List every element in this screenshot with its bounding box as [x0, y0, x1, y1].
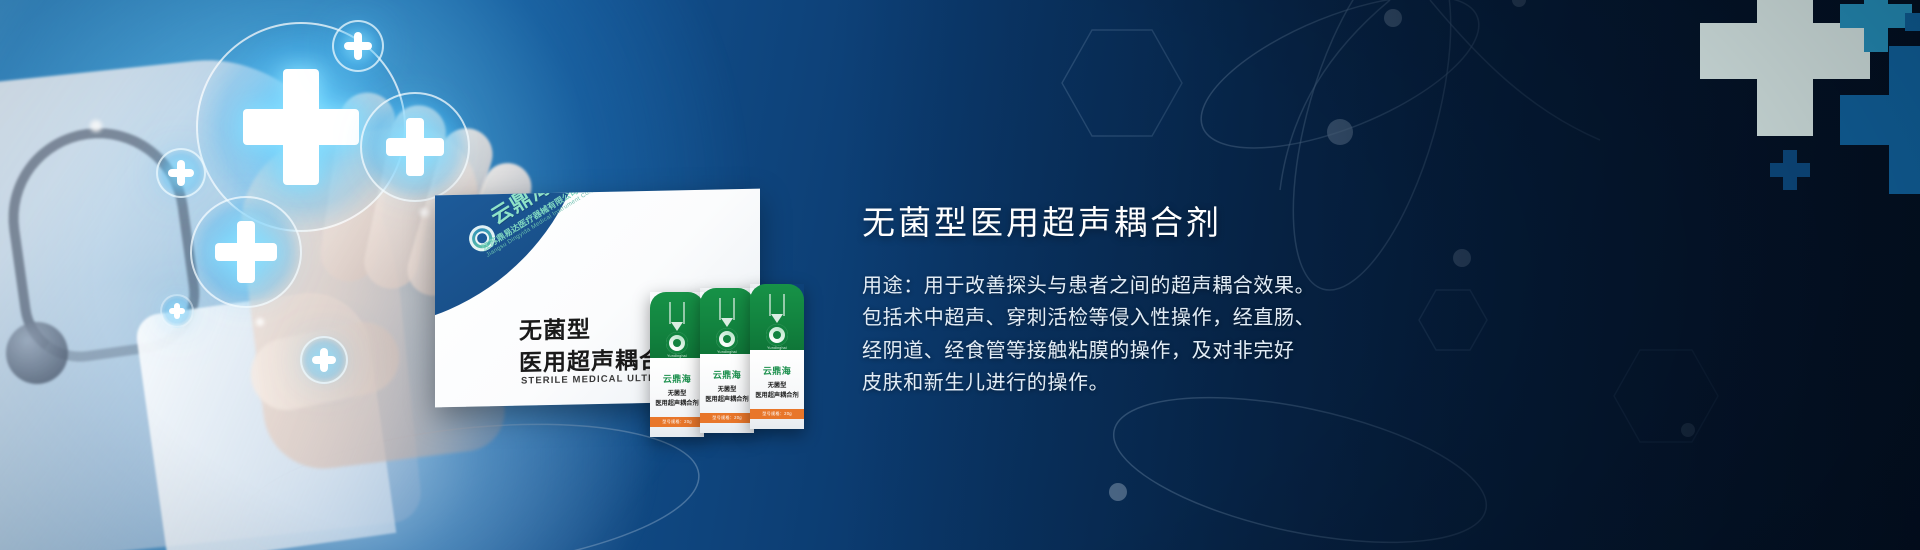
description-line: 经阴道、经食管等接触粘膜的操作，及对非完好 — [862, 335, 1482, 367]
medical-cross-icon — [1770, 150, 1810, 190]
sachet-spec-band: 型号规格：20g — [700, 413, 754, 423]
glow-cross-node — [300, 336, 348, 384]
sachet-brand: 云鼎海 — [750, 364, 804, 377]
brand-swirl-icon — [716, 328, 738, 350]
glow-cross-node — [360, 92, 470, 202]
sachet-brand: 云鼎海 — [650, 372, 704, 385]
light-spark — [90, 120, 102, 132]
banner-description: 用途：用于改善探头与患者之间的超声耦合效果。 包括术中超声、穿刺活检等侵入性操作… — [862, 270, 1482, 400]
medical-cross-icon — [312, 348, 336, 372]
product-sachet: Yundinghai 云鼎海 无菌型 医用超声耦合剂 型号规格：20g — [650, 292, 704, 437]
sachet-top: Yundinghai — [700, 288, 754, 354]
sachet-spec: 型号规格：20g — [650, 419, 704, 425]
sachet-arrow-icon — [771, 314, 783, 323]
sachet-arrow-icon — [721, 318, 733, 327]
glow-cross-node — [190, 196, 302, 308]
sachet-spec-band: 型号规格：20g — [650, 417, 704, 427]
medical-cross-icon — [169, 303, 185, 319]
banner-headline: 无菌型医用超声耦合剂 — [862, 206, 1482, 239]
sachet-line1: 无菌型 — [750, 380, 804, 389]
sachet-line2: 医用超声耦合剂 — [700, 394, 754, 403]
sachet-spec: 型号规格：20g — [750, 411, 804, 417]
banner-copy: 无菌型医用超声耦合剂 用途：用于改善探头与患者之间的超声耦合效果。 包括术中超声… — [862, 206, 1482, 400]
sachet-neck — [769, 294, 785, 316]
sachet-neck — [669, 302, 685, 324]
medical-cross-icon — [386, 118, 444, 176]
sachet-line1: 无菌型 — [650, 388, 704, 397]
sachet-neck — [719, 298, 735, 320]
sachet-arrow-icon — [671, 322, 683, 331]
medical-cross-icon — [1840, 46, 1920, 194]
stethoscope-bell-icon — [6, 322, 68, 384]
sachet-top: Yundinghai — [650, 292, 704, 358]
brand-swirl-icon — [766, 324, 788, 346]
medical-cross-icon — [215, 221, 277, 283]
sachet-line1: 无菌型 — [700, 384, 754, 393]
sachet-spec: 型号规格：20g — [700, 415, 754, 421]
medical-cross-icon — [1905, 0, 1920, 50]
sachet-body: 云鼎海 无菌型 医用超声耦合剂 型号规格：20g — [750, 350, 804, 429]
light-spark — [420, 208, 429, 217]
sachet-spec-band: 型号规格：20g — [750, 409, 804, 419]
product-sachet: Yundinghai 云鼎海 无菌型 医用超声耦合剂 型号规格：20g — [700, 288, 754, 433]
description-line: 皮肤和新生儿进行的操作。 — [862, 367, 1482, 399]
glow-cross-node — [332, 20, 384, 72]
description-line: 用途：用于改善探头与患者之间的超声耦合效果。 — [862, 270, 1482, 302]
brand-swirl-icon — [666, 332, 688, 354]
description-line: 包括术中超声、穿刺活检等侵入性操作，经直肠、 — [862, 302, 1482, 334]
product-box-title-line1: 无菌型 — [519, 310, 591, 346]
light-spark — [256, 318, 264, 326]
product-hero-banner: 云鼎海 江苏鼎易达医疗器械有限公司 Jiangsu Dingyida Medic… — [0, 0, 1920, 550]
medical-cross-icon — [168, 160, 194, 186]
sachet-line2: 医用超声耦合剂 — [750, 390, 804, 399]
glow-cross-node — [160, 294, 194, 328]
medical-cross-icon — [243, 69, 359, 185]
medical-cross-icon — [344, 32, 372, 60]
medical-cross-icon — [1840, 0, 1912, 52]
sachet-brand: 云鼎海 — [700, 368, 754, 381]
sachet-body: 云鼎海 无菌型 医用超声耦合剂 型号规格：20g — [650, 358, 704, 437]
sachet-line2: 医用超声耦合剂 — [650, 398, 704, 407]
product-sachet: Yundinghai 云鼎海 无菌型 医用超声耦合剂 型号规格：20g — [750, 284, 804, 429]
sachet-body: 云鼎海 无菌型 医用超声耦合剂 型号规格：20g — [700, 354, 754, 433]
glow-cross-node — [156, 148, 206, 198]
sachet-top: Yundinghai — [750, 284, 804, 350]
